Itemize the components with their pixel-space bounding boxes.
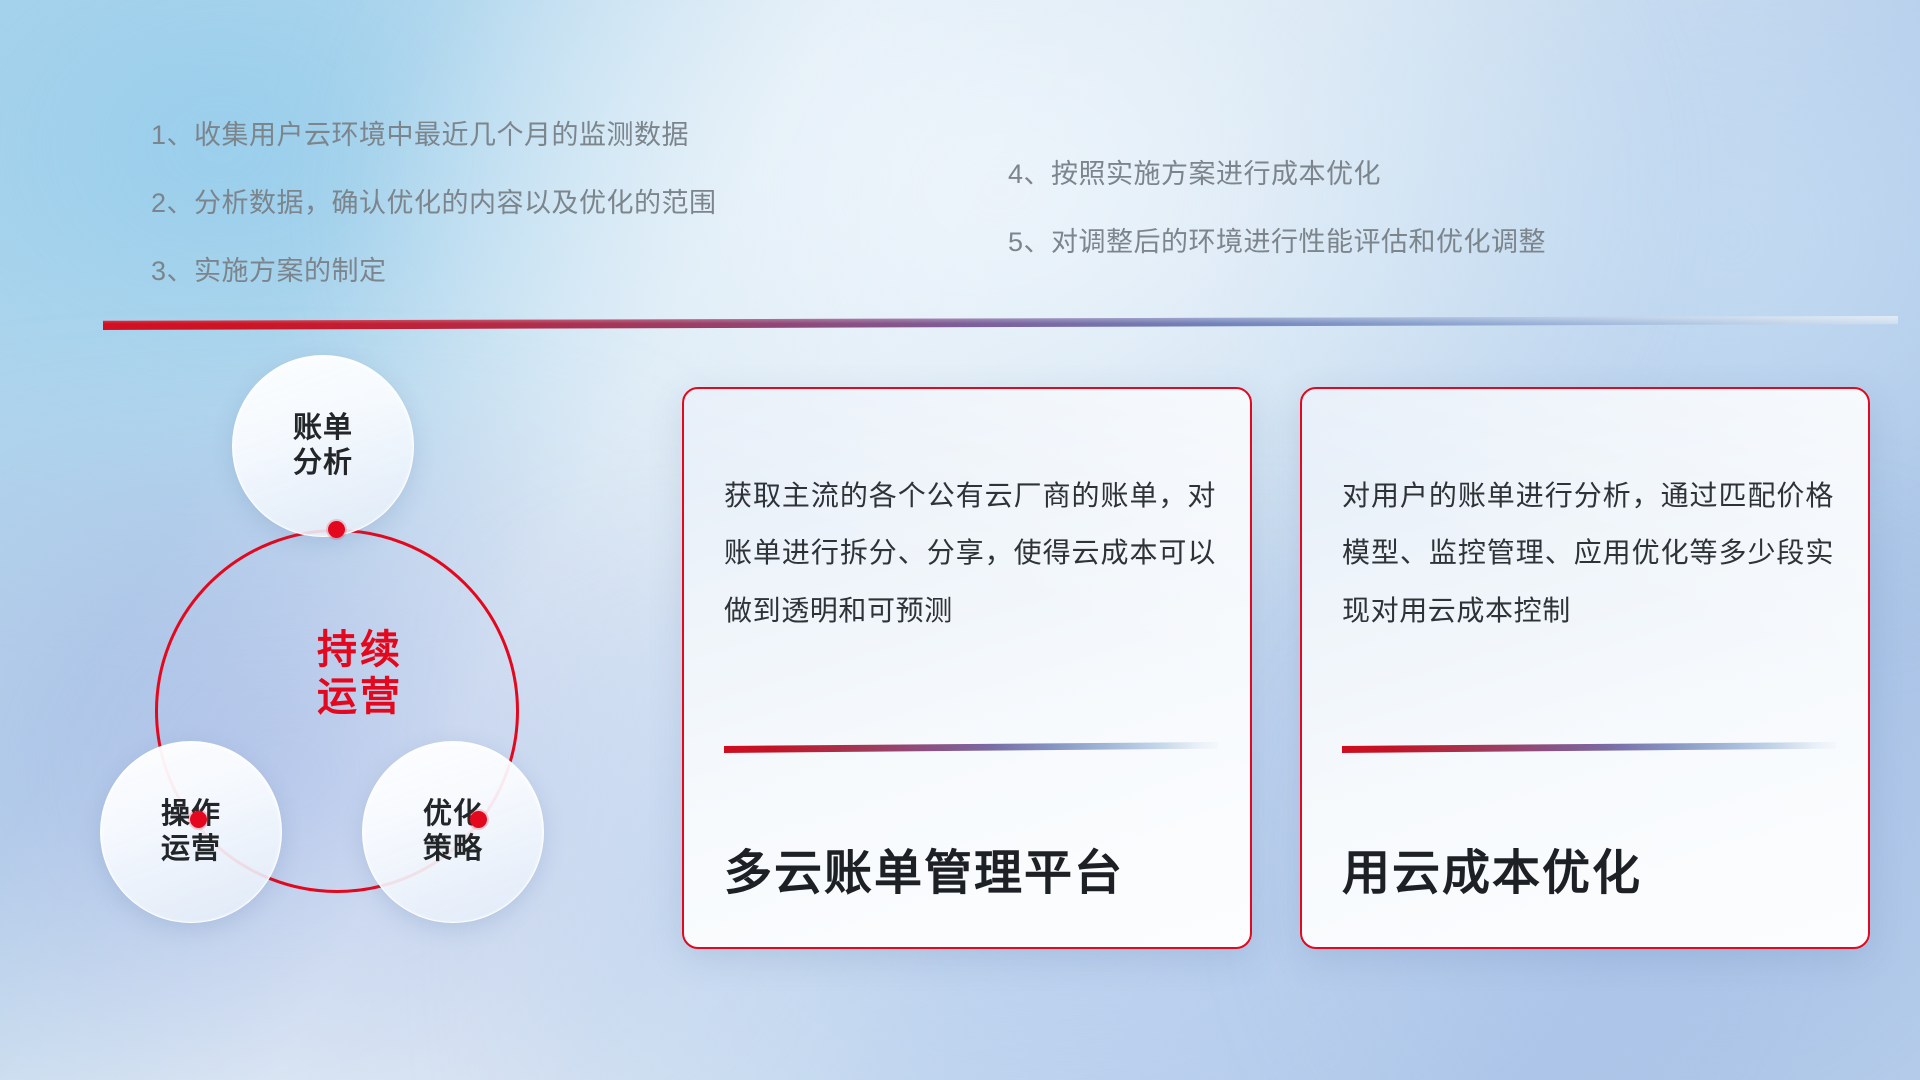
card-2-divider-bar	[1342, 742, 1836, 753]
center-label-line-1: 持续	[280, 627, 440, 674]
card-multi-cloud-billing-platform[interactable]: 获取主流的各个公有云厂商的账单，对账单进行拆分、分享，使得云成本可以做到透明和可…	[682, 387, 1252, 949]
card-2-title: 用云成本优化	[1342, 848, 1642, 901]
card-2-divider	[1342, 742, 1836, 753]
divider-gloss	[103, 316, 1898, 330]
center-label-line-2: 运营	[280, 674, 440, 721]
bubble-opt-line-2: 策略	[423, 832, 483, 867]
card-1-description: 获取主流的各个公有云厂商的账单，对账单进行拆分、分享，使得云成本可以做到透明和可…	[724, 467, 1216, 639]
step-item-5: 5、对调整后的环境进行性能评估和优化调整	[1008, 229, 1546, 256]
continuous-operations-diagram: 持续 运营 账单 分析 操作 运营 优化 策略	[100, 355, 620, 935]
step-item-2: 2、分析数据，确认优化的内容以及优化的范围	[151, 190, 717, 217]
card-2-description: 对用户的账单进行分析，通过匹配价格模型、监控管理、应用优化等多少段实现对用云成本…	[1342, 467, 1834, 639]
card-1-divider	[724, 742, 1218, 753]
steps-list-right: 4、按照实施方案进行成本优化 5、对调整后的环境进行性能评估和优化调整	[1008, 161, 1546, 297]
card-1-divider-bar	[724, 742, 1218, 753]
bubble-ops-line-2: 运营	[161, 832, 221, 867]
bubble-bill-line-2: 分析	[293, 446, 353, 481]
ring-node-top-dot-icon	[328, 521, 345, 538]
steps-list-left: 1、收集用户云环境中最近几个月的监测数据 2、分析数据，确认优化的内容以及优化的…	[151, 122, 717, 326]
card-1-title: 多云账单管理平台	[724, 848, 1124, 901]
step-item-1: 1、收集用户云环境中最近几个月的监测数据	[151, 122, 717, 149]
bubble-bill-line-1: 账单	[293, 411, 353, 446]
ring-node-left-dot-icon	[190, 811, 207, 828]
ring-node-right-dot-icon	[470, 811, 487, 828]
card-cloud-cost-optimization[interactable]: 对用户的账单进行分析，通过匹配价格模型、监控管理、应用优化等多少段实现对用云成本…	[1300, 387, 1870, 949]
diagram-bubble-optimization[interactable]: 优化 策略	[362, 741, 544, 923]
diagram-center-label: 持续 运营	[280, 627, 440, 721]
step-item-3: 3、实施方案的制定	[151, 258, 717, 285]
diagram-bubble-bill-analysis[interactable]: 账单 分析	[232, 355, 414, 537]
section-divider	[103, 316, 1898, 330]
diagram-bubble-operations[interactable]: 操作 运营	[100, 741, 282, 923]
step-item-4: 4、按照实施方案进行成本优化	[1008, 161, 1546, 188]
